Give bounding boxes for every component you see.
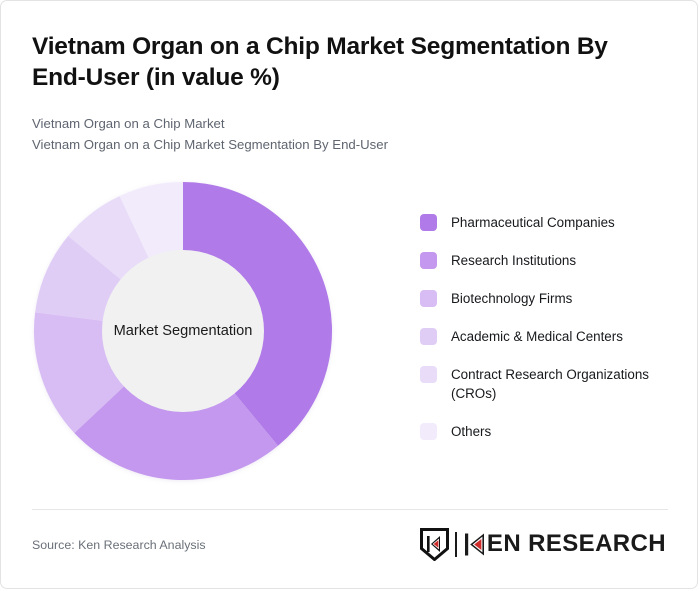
- chart-card: Vietnam Organ on a Chip Market Segmentat…: [0, 0, 698, 589]
- ken-research-logo: EN RESEARCH: [420, 527, 666, 561]
- legend-item[interactable]: Academic & Medical Centers: [420, 327, 670, 346]
- shield-logo-icon: [420, 528, 449, 561]
- legend-swatch-icon: [420, 252, 437, 269]
- subtitle-block: Vietnam Organ on a Chip Market Vietnam O…: [32, 113, 652, 156]
- legend-item[interactable]: Others: [420, 422, 670, 441]
- legend-item[interactable]: Research Institutions: [420, 251, 670, 270]
- legend-label: Academic & Medical Centers: [451, 327, 623, 346]
- legend-label: Pharmaceutical Companies: [451, 213, 615, 232]
- logo-word-text: EN RESEARCH: [487, 532, 666, 556]
- legend-label: Biotechnology Firms: [451, 289, 572, 308]
- legend-item[interactable]: Biotechnology Firms: [420, 289, 670, 308]
- legend-swatch-icon: [420, 366, 437, 383]
- legend-label: Others: [451, 422, 491, 441]
- footer-divider: [32, 509, 668, 510]
- legend-swatch-icon: [420, 328, 437, 345]
- logo-separator: [455, 532, 457, 557]
- donut-chart: Market Segmentation: [33, 181, 333, 481]
- logo-k-icon: [464, 532, 486, 557]
- page-title: Vietnam Organ on a Chip Market Segmentat…: [32, 31, 652, 94]
- logo-wordmark: EN RESEARCH: [464, 532, 666, 557]
- donut-hole: [102, 250, 264, 412]
- donut-chart-svg: [33, 181, 333, 481]
- legend-label: Research Institutions: [451, 251, 576, 270]
- legend-label: Contract Research Organizations (CROs): [451, 365, 656, 403]
- legend-swatch-icon: [420, 423, 437, 440]
- legend-swatch-icon: [420, 214, 437, 231]
- chart-legend: Pharmaceutical CompaniesResearch Institu…: [420, 213, 670, 460]
- legend-item[interactable]: Contract Research Organizations (CROs): [420, 365, 670, 403]
- subtitle-segmentation: Vietnam Organ on a Chip Market Segmentat…: [32, 134, 652, 155]
- subtitle-market: Vietnam Organ on a Chip Market: [32, 113, 652, 134]
- legend-swatch-icon: [420, 290, 437, 307]
- legend-item[interactable]: Pharmaceutical Companies: [420, 213, 670, 232]
- source-note: Source: Ken Research Analysis: [32, 538, 206, 552]
